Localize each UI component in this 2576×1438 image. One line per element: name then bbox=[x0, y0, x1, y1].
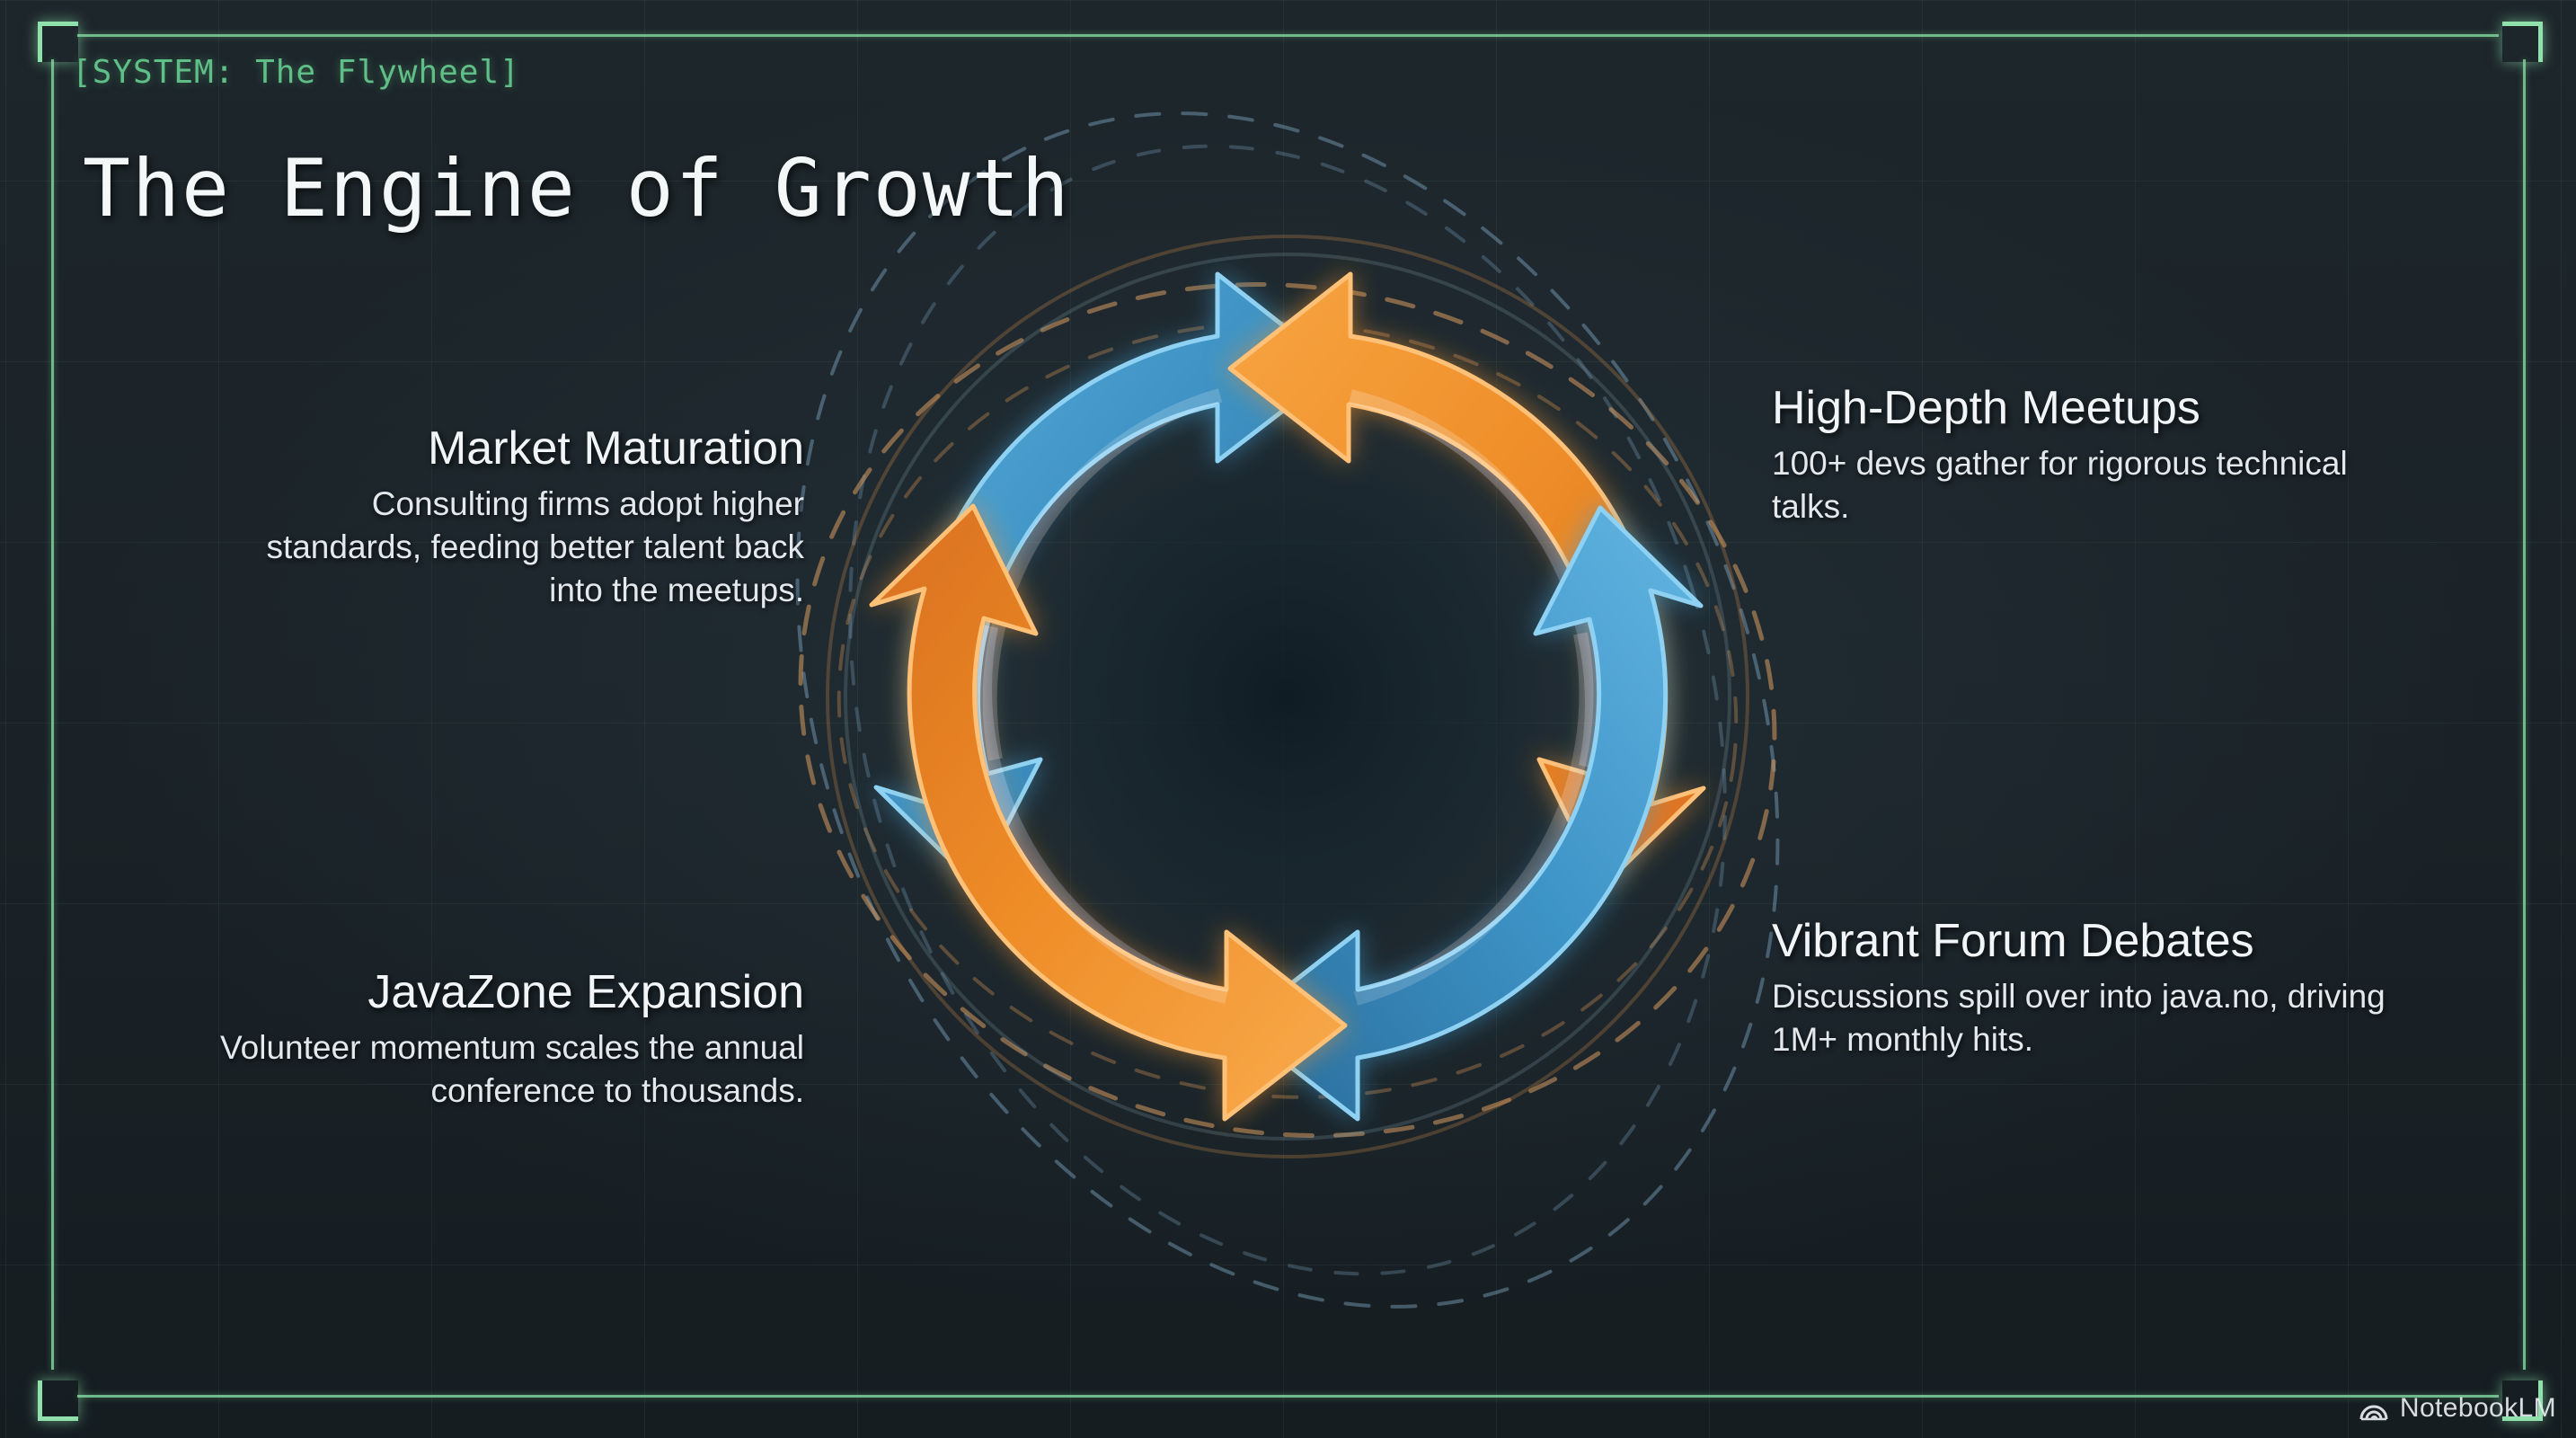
flywheel-diagram bbox=[811, 220, 1764, 1173]
node-vibrant-forum-debates: Vibrant Forum Debates Discussions spill … bbox=[1772, 915, 2446, 1061]
notebooklm-logo-icon bbox=[2359, 1395, 2389, 1422]
node-title: JavaZone Expansion bbox=[202, 966, 804, 1018]
frame-line-top bbox=[77, 34, 2499, 37]
frame-corner-top-right bbox=[2502, 22, 2543, 62]
node-javazone-expansion: JavaZone Expansion Volunteer momentum sc… bbox=[202, 966, 804, 1113]
notebooklm-watermark: NotebookLM bbox=[2359, 1393, 2556, 1424]
node-description: Discussions spill over into java.no, dri… bbox=[1772, 975, 2446, 1061]
node-title: High-Depth Meetups bbox=[1772, 382, 2401, 434]
frame-corner-bottom-left bbox=[38, 1380, 78, 1421]
frame-line-right bbox=[2523, 59, 2526, 1370]
node-title: Market Maturation bbox=[220, 422, 804, 475]
system-tag: [SYSTEM: The Flywheel] bbox=[72, 54, 520, 91]
notebooklm-label: NotebookLM bbox=[2400, 1393, 2556, 1424]
frame-line-left bbox=[51, 59, 54, 1370]
slide-canvas: [SYSTEM: The Flywheel] The Engine of Gro… bbox=[0, 0, 2576, 1438]
node-description: 100+ devs gather for rigorous technical … bbox=[1772, 442, 2401, 528]
flywheel-hub bbox=[1018, 427, 1557, 966]
node-title: Vibrant Forum Debates bbox=[1772, 915, 2446, 967]
frame-line-bottom bbox=[77, 1395, 2499, 1398]
node-description: Volunteer momentum scales the annual con… bbox=[202, 1026, 804, 1113]
node-market-maturation: Market Maturation Consulting firms adopt… bbox=[220, 422, 804, 613]
node-description: Consulting firms adopt higher standards,… bbox=[220, 483, 804, 612]
node-high-depth-meetups: High-Depth Meetups 100+ devs gather for … bbox=[1772, 382, 2401, 528]
